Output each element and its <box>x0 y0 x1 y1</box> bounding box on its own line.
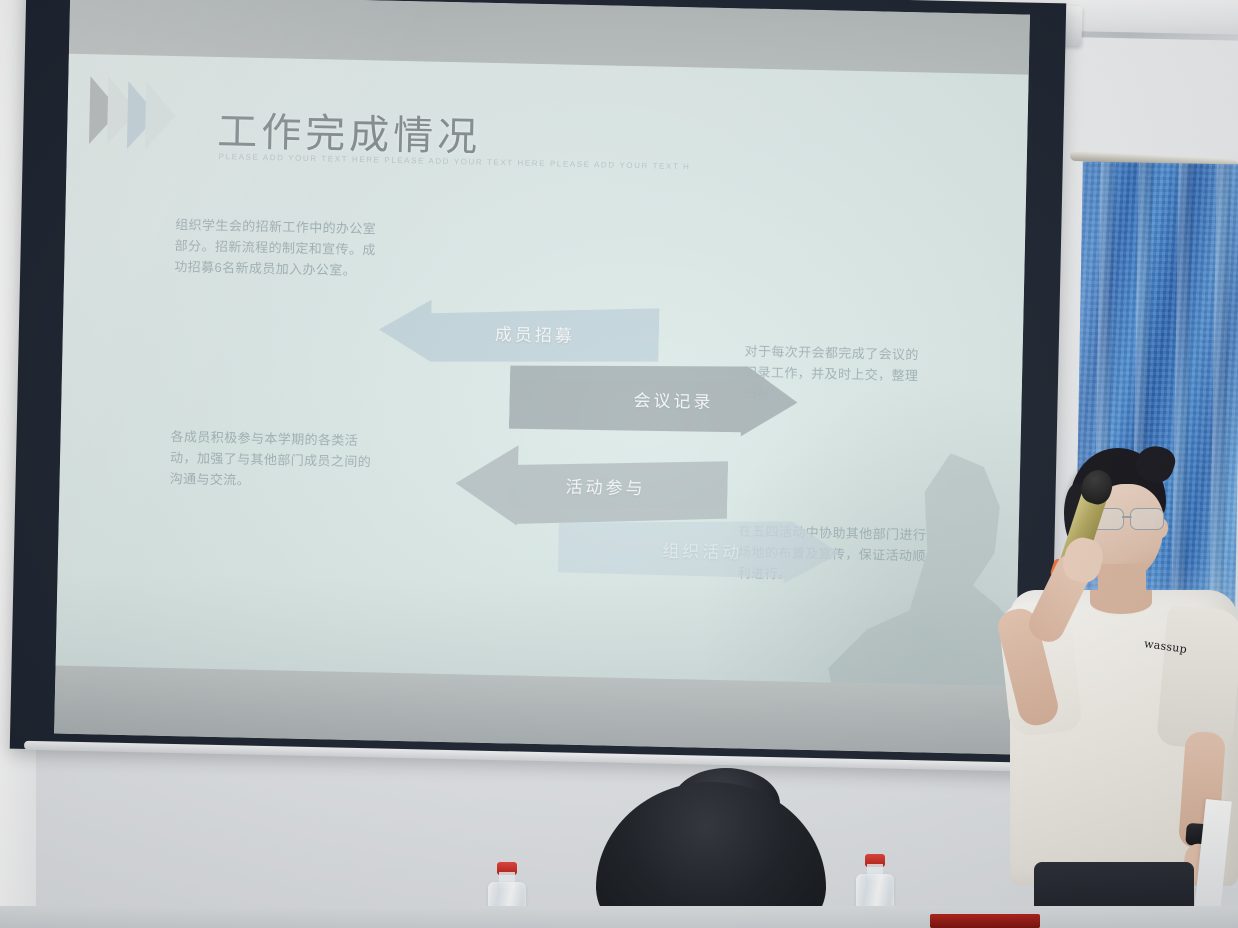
arrow-activity-participation: 活动参与 <box>455 442 729 530</box>
slide-text-top-left: 组织学生会的招新工作中的办公室部分。招新流程的制定和宣传。成功招募6名新成员加入… <box>174 214 380 282</box>
projector-screen-surface: 工作完成情况 PLEASE ADD YOUR TEXT HERE PLEASE … <box>54 0 1030 754</box>
projector-screen-frame: 工作完成情况 PLEASE ADD YOUR TEXT HERE PLEASE … <box>10 0 1067 771</box>
glasses-lens-right <box>1130 508 1164 530</box>
speaker-person: wassup <box>986 432 1238 928</box>
classroom-presentation-photo: 工作完成情况 PLEASE ADD YOUR TEXT HERE PLEASE … <box>0 0 1238 928</box>
slide-text-bottom-left: 各成员积极参与本学期的各类活动，加强了与其他部门成员之间的沟通与交流。 <box>169 426 375 494</box>
red-folder <box>930 914 1040 928</box>
table-edge <box>0 906 1238 928</box>
arrow-label-activity-participation: 活动参与 <box>565 473 646 500</box>
projected-slide: 工作完成情况 PLEASE ADD YOUR TEXT HERE PLEASE … <box>56 54 1029 687</box>
speaker-sleeve-right <box>1156 605 1238 751</box>
arrow-label-member-recruitment: 成员招募 <box>495 320 576 347</box>
speaker-collar <box>1090 590 1152 614</box>
chevron-blue-cut-icon <box>145 81 176 150</box>
arrow-member-recruitment: 成员招募 <box>378 299 659 367</box>
